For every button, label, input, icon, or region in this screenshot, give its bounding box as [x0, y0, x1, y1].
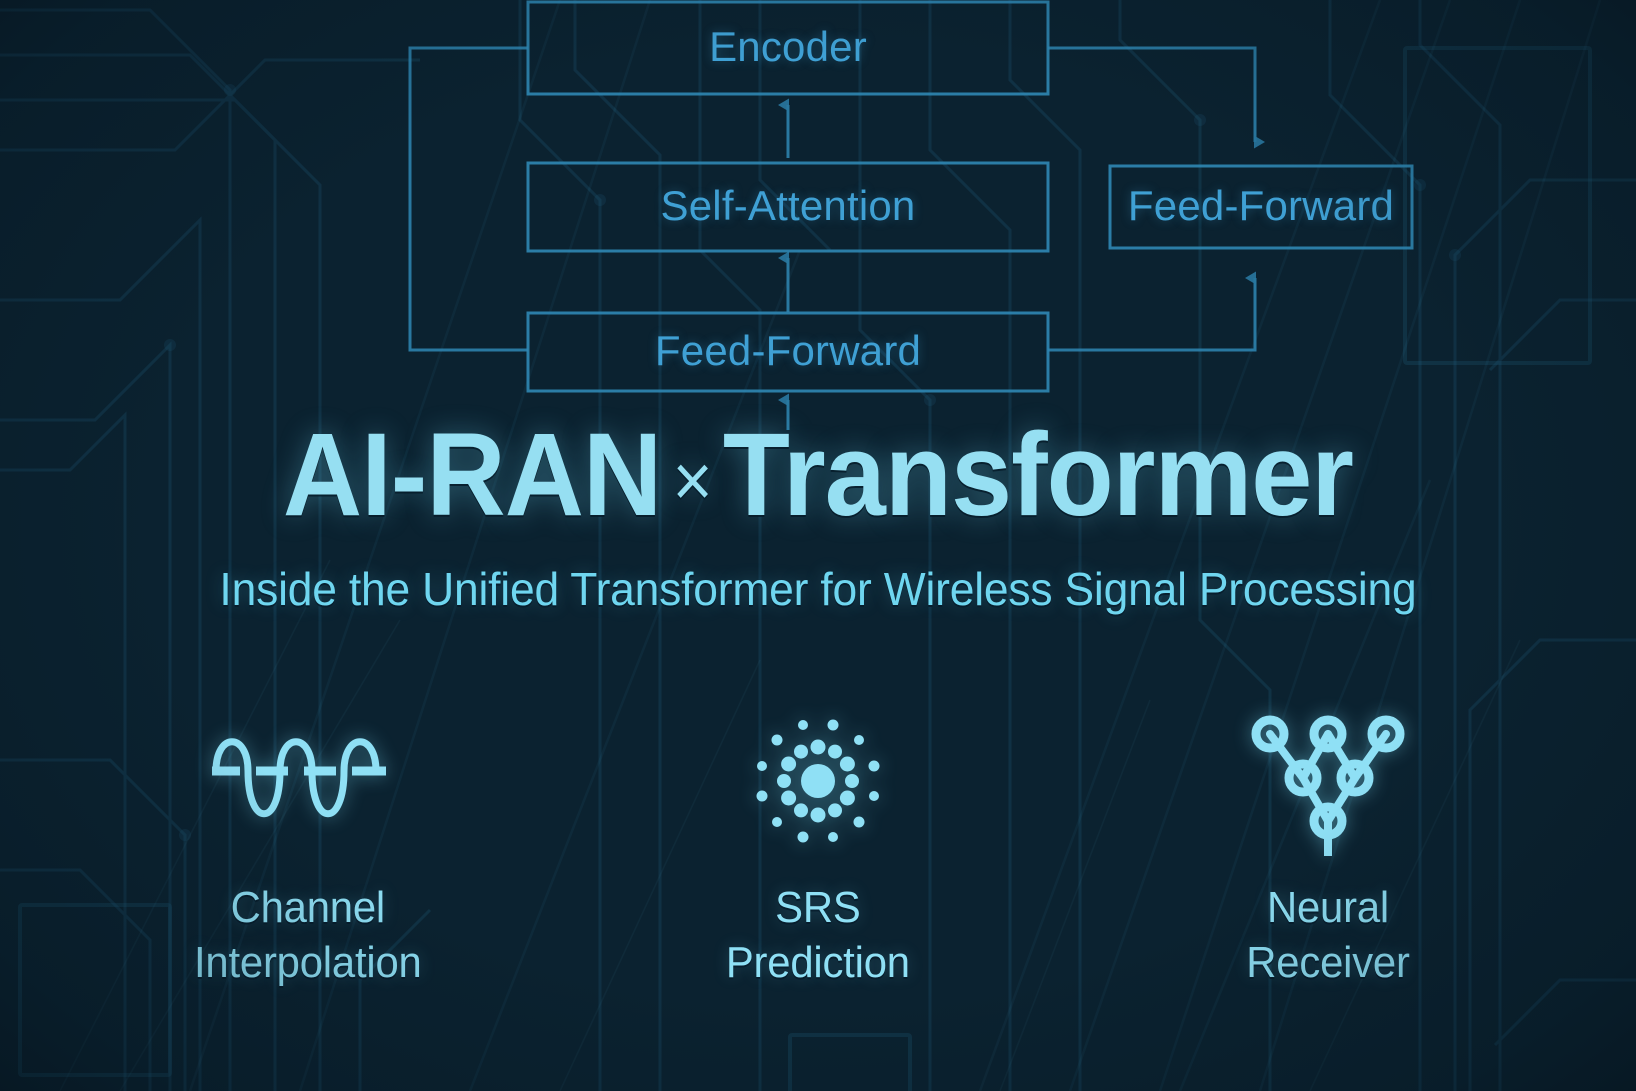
diagram-block-feed-forward-bottom: Feed-Forward	[655, 327, 921, 375]
feature-label-line1: Neural	[1267, 883, 1389, 932]
feature-label-line2: Receiver	[1246, 935, 1409, 990]
poster-canvas: Encoder Self-Attention Feed-Forward Feed…	[0, 0, 1636, 1091]
sine-wave-icon	[208, 706, 408, 856]
feature-row: Channel Interpolation	[0, 706, 1636, 990]
feature-label-channel-interpolation: Channel Interpolation	[194, 880, 422, 990]
title-part-ai-ran: AI-RAN	[283, 409, 661, 541]
neural-network-icon	[1243, 706, 1413, 856]
feature-label-line1: Channel	[231, 883, 385, 932]
diagram-block-self-attention: Self-Attention	[661, 182, 916, 230]
feature-label-line2: Interpolation	[194, 935, 422, 990]
feature-label-line1: SRS	[775, 883, 860, 932]
feature-label-srs-prediction: SRS Prediction	[726, 880, 910, 990]
page-subtitle: Inside the Unified Transformer for Wirel…	[29, 562, 1608, 616]
diagram-block-encoder: Encoder	[709, 23, 867, 71]
page-title: AI-RAN×Transformer	[57, 416, 1578, 534]
title-operator-x: ×	[661, 439, 723, 522]
feature-channel-interpolation: Channel Interpolation	[148, 706, 468, 990]
feature-srs-prediction: SRS Prediction	[658, 706, 978, 990]
feature-label-neural-receiver: Neural Receiver	[1246, 880, 1409, 990]
title-part-transformer: Transformer	[723, 409, 1353, 541]
feature-label-line2: Prediction	[726, 935, 910, 990]
headline-block: AI-RAN×Transformer Inside the Unified Tr…	[0, 416, 1636, 616]
radial-dots-icon	[743, 706, 893, 856]
feature-neural-receiver: Neural Receiver	[1168, 706, 1488, 990]
diagram-block-feed-forward-right: Feed-Forward	[1128, 182, 1394, 230]
